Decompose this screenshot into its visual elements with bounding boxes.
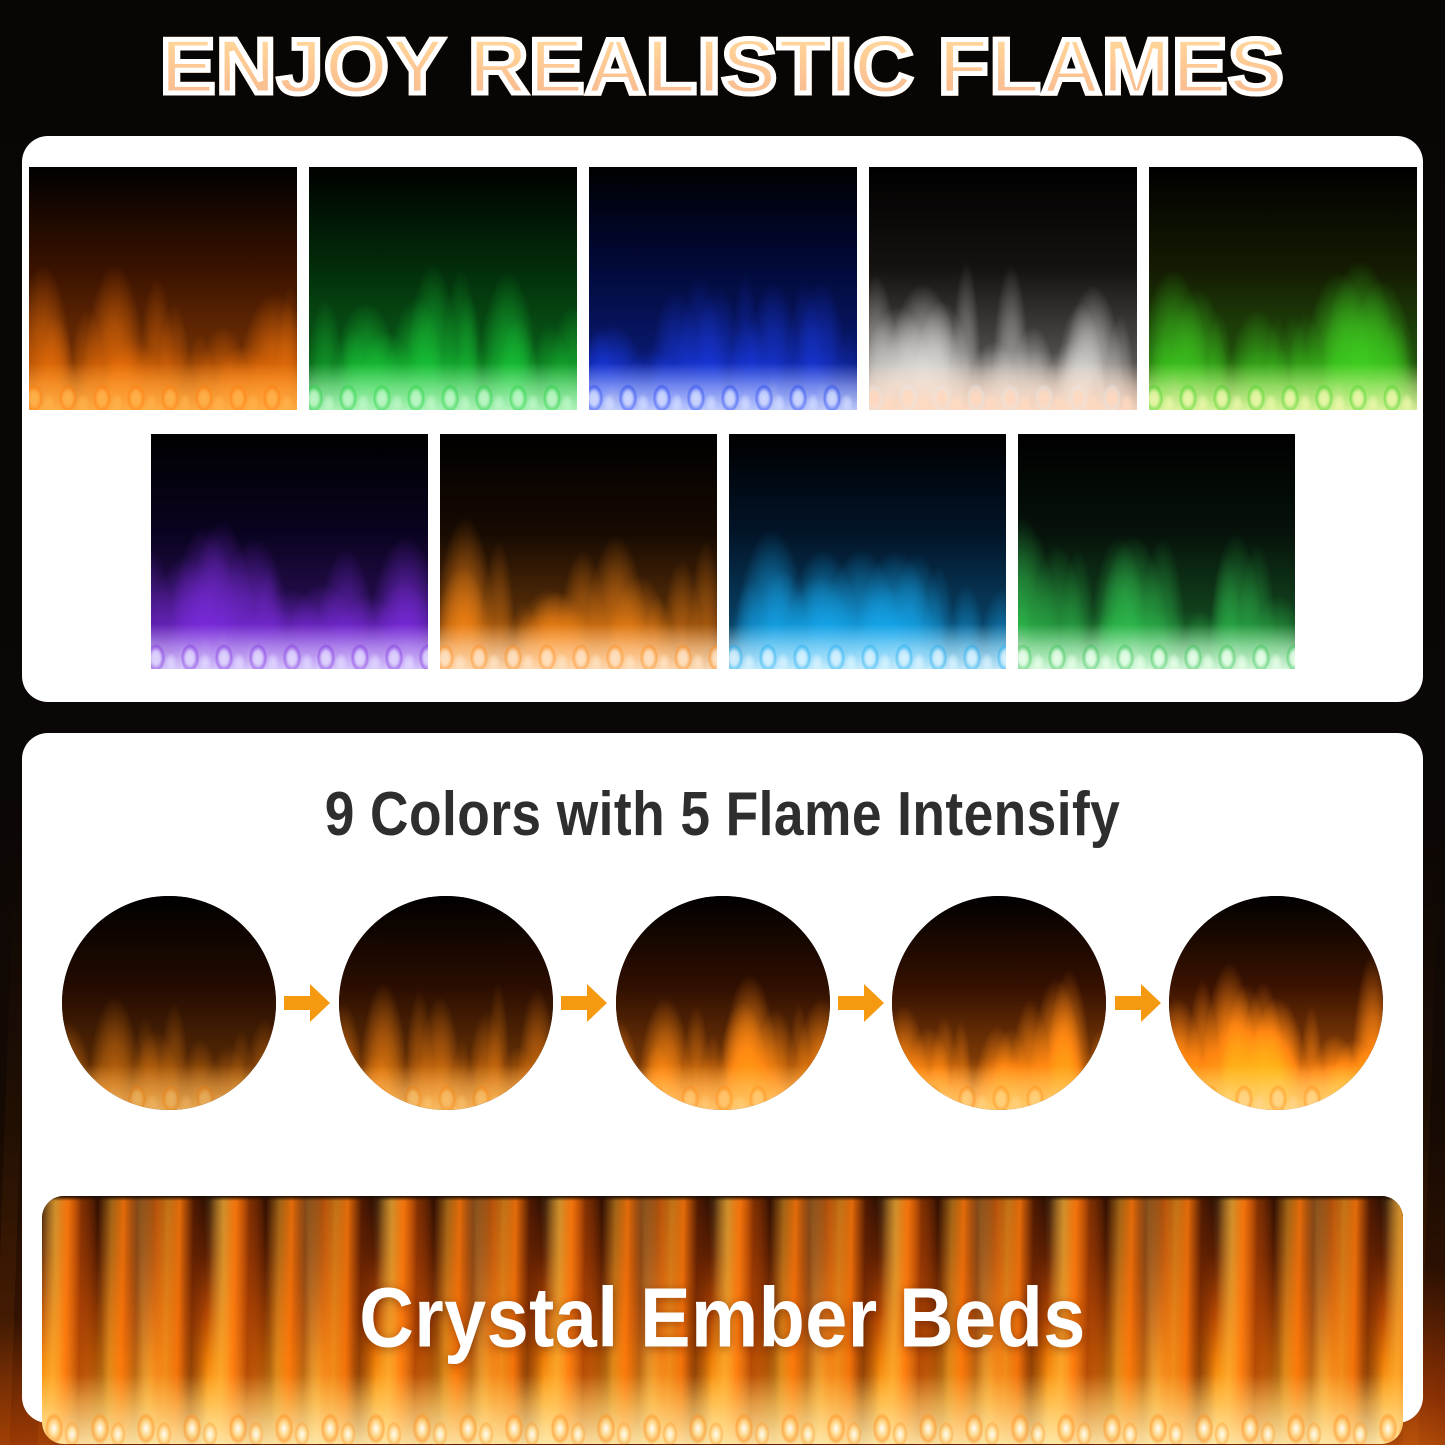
flame-intensity-panel: 9 Colors with 5 Flame Intensify Crystal … — [22, 733, 1423, 1423]
crystal-ember-banner: Crystal Ember Beds — [42, 1196, 1403, 1444]
intensity-circle-2[interactable] — [339, 896, 553, 1110]
arrow-right-icon — [1115, 983, 1161, 1023]
crystal-ember-bed — [339, 1065, 553, 1110]
crystal-ember-bed — [869, 363, 1137, 410]
flame-swatch-green-flame[interactable] — [309, 167, 577, 410]
intensity-circle-4[interactable] — [892, 896, 1106, 1110]
flame-swatch-purple-pink-blue-flame[interactable] — [151, 434, 428, 669]
page-title: ENJOY REALISTIC FLAMES — [160, 27, 1284, 105]
crystal-ember-bed — [151, 624, 428, 669]
intensity-circle-1[interactable] — [62, 896, 276, 1110]
banner-title: Crystal Ember Beds — [110, 1270, 1335, 1367]
flame-color-row-bottom — [34, 434, 1411, 669]
crystal-ember-bed — [440, 624, 717, 669]
banner-crystal-bed — [42, 1374, 1403, 1444]
crystal-ember-bed — [309, 363, 577, 410]
crystal-ember-bed — [1149, 363, 1417, 410]
promo-image-root: ENJOY REALISTIC FLAMES 9 Colors with 5 F… — [0, 0, 1445, 1445]
crystal-ember-bed — [892, 1065, 1106, 1110]
intensity-circle-3[interactable] — [616, 896, 830, 1110]
intensity-progression — [62, 888, 1383, 1118]
arrow-right-icon — [838, 983, 884, 1023]
crystal-ember-bed — [29, 363, 297, 410]
flame-swatch-orange-flame[interactable] — [29, 167, 297, 410]
flame-swatch-orange-white-flame[interactable] — [440, 434, 717, 669]
flame-swatch-green-yellow-flame[interactable] — [1149, 167, 1417, 410]
arrow-right-icon — [284, 983, 330, 1023]
crystal-ember-bed — [616, 1065, 830, 1110]
crystal-ember-bed — [62, 1065, 276, 1110]
flame-swatch-cyan-blue-green-flame[interactable] — [729, 434, 1006, 669]
intensity-circle-5[interactable] — [1169, 896, 1383, 1110]
flame-swatch-green-white-flame[interactable] — [1018, 434, 1295, 669]
flame-colors-panel — [22, 136, 1423, 702]
arrow-right-icon — [561, 983, 607, 1023]
crystal-ember-bed — [589, 363, 857, 410]
section-title: 9 Colors with 5 Flame Intensify — [120, 779, 1325, 850]
flame-color-row-top — [34, 167, 1411, 410]
crystal-ember-bed — [1018, 624, 1295, 669]
flame-swatch-white-flame[interactable] — [869, 167, 1137, 410]
crystal-ember-bed — [729, 624, 1006, 669]
flame-swatch-blue-flame[interactable] — [589, 167, 857, 410]
crystal-ember-bed — [1169, 1065, 1383, 1110]
header-banner: ENJOY REALISTIC FLAMES — [0, 0, 1445, 132]
